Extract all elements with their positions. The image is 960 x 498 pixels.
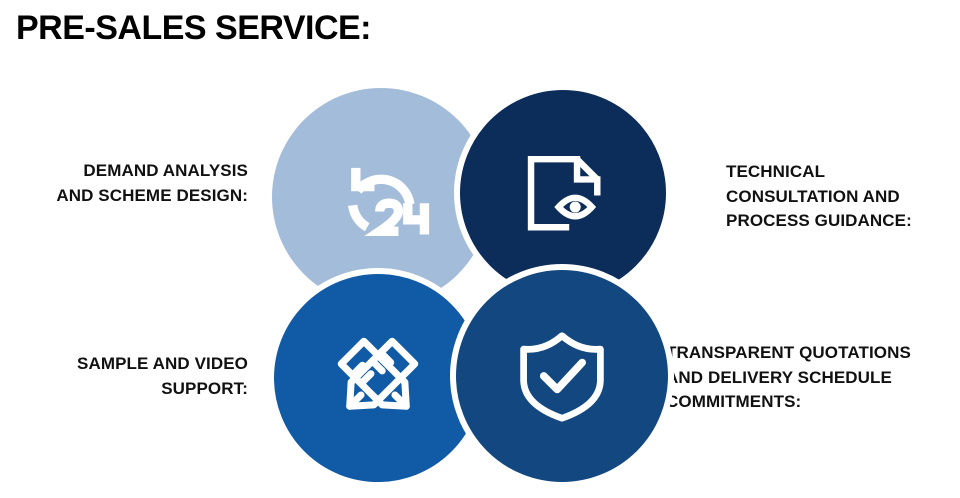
page-title: PRE-SALES SERVICE:	[16, 10, 371, 47]
label-demand-analysis: DEMAND ANALYSIS AND SCHEME DESIGN:	[0, 159, 248, 208]
label-sample-video-support: SAMPLE AND VIDEO SUPPORT:	[0, 352, 248, 401]
label-technical-consultation: TECHNICAL CONSULTATION AND PROCESS GUIDA…	[726, 160, 960, 234]
label-line: SAMPLE AND VIDEO	[0, 352, 248, 377]
label-line: COMMITMENTS:	[666, 390, 960, 415]
circle-transparent-quotations[interactable]	[450, 264, 674, 488]
label-line: TRANSPARENT QUOTATIONS	[666, 341, 960, 366]
circle-cluster	[268, 84, 676, 488]
crossed-pens-icon	[328, 328, 428, 428]
label-transparent-quotations: TRANSPARENT QUOTATIONS AND DELIVERY SCHE…	[666, 341, 960, 415]
label-line: AND SCHEME DESIGN:	[0, 184, 248, 209]
pre-sales-service-infographic: PRE-SALES SERVICE:	[0, 0, 960, 498]
document-eye-icon	[518, 148, 610, 240]
shield-check-icon	[514, 328, 610, 424]
label-line: PROCESS GUIDANCE:	[726, 209, 960, 234]
label-line: CONSULTATION AND	[726, 185, 960, 210]
label-line: DEMAND ANALYSIS	[0, 159, 248, 184]
label-line: SUPPORT:	[0, 377, 248, 402]
label-line: AND DELIVERY SCHEDULE	[666, 366, 960, 391]
clock-24-rotate-icon	[331, 145, 435, 249]
label-line: TECHNICAL	[726, 160, 960, 185]
